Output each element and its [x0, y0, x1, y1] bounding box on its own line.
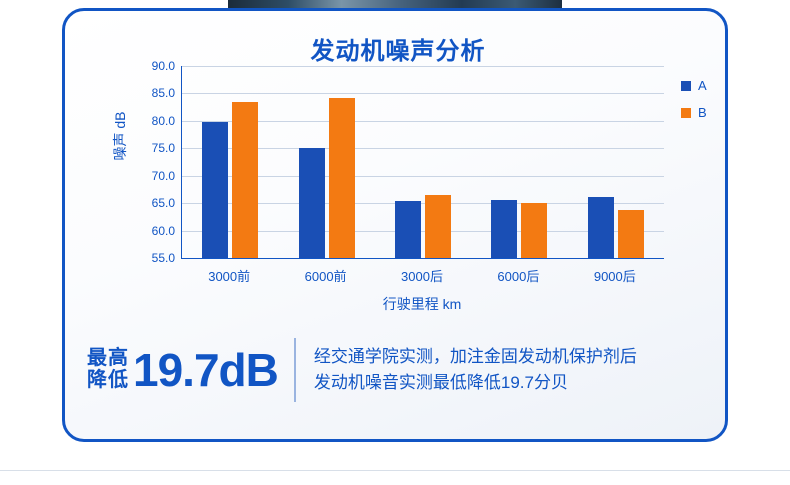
chart-legend: AB [681, 78, 727, 132]
callout-metric: 最高 降低 19.7dB [87, 338, 296, 402]
x-tick-label: 9000后 [594, 266, 636, 285]
y-tick-label: 70.0 [127, 169, 175, 183]
y-tick-label: 65.0 [127, 196, 175, 210]
legend-item-B: B [681, 105, 727, 120]
chart-area: 噪声 dB 55.060.065.070.075.080.085.090.0 3… [65, 66, 731, 321]
bar-B-6000后 [521, 203, 547, 258]
bar-B-9000后 [618, 210, 644, 258]
x-tick-label: 3000后 [401, 266, 443, 285]
y-tick-label: 55.0 [127, 251, 175, 265]
legend-label: A [698, 78, 707, 93]
y-tick-label: 60.0 [127, 224, 175, 238]
callout-label-bottom: 降低 [87, 370, 129, 392]
x-axis-title: 行驶里程 km [181, 294, 663, 314]
callout-description-line2: 发动机噪音实测最低降低19.7分贝 [314, 370, 637, 396]
callout-description-line1: 经交通学院实测，加注金固发动机保护剂后 [314, 344, 637, 370]
y-tick-label: 75.0 [127, 141, 175, 155]
y-tick-label: 90.0 [127, 59, 175, 73]
highlight-callout: 最高 降低 19.7dB 经交通学院实测，加注金固发动机保护剂后 发动机噪音实测… [87, 333, 707, 407]
y-axis-tick-labels: 55.060.065.070.075.080.085.090.0 [127, 66, 175, 258]
legend-item-A: A [681, 78, 727, 93]
noise-analysis-card: 发动机噪声分析 噪声 dB 55.060.065.070.075.080.085… [62, 8, 728, 442]
x-tick-label: 6000后 [497, 266, 539, 285]
top-cropped-image-strip [0, 0, 790, 8]
x-tick-label: 6000前 [305, 266, 347, 285]
x-tick-label: 3000前 [208, 266, 250, 285]
bar-B-3000前 [232, 102, 258, 258]
bottom-divider [0, 470, 790, 471]
gridline [182, 93, 664, 94]
y-tick-label: 85.0 [127, 86, 175, 100]
callout-value: 19.7dB [133, 347, 278, 393]
legend-swatch-icon [681, 108, 691, 118]
legend-label: B [698, 105, 707, 120]
partial-photo-thumbnail [228, 0, 562, 8]
callout-metric-labels: 最高 降低 [87, 348, 129, 391]
bar-B-3000后 [425, 195, 451, 258]
bar-A-9000后 [588, 197, 614, 258]
y-tick-label: 80.0 [127, 114, 175, 128]
bar-A-6000前 [299, 148, 325, 258]
bar-A-3000后 [395, 201, 421, 258]
bar-B-6000前 [329, 98, 355, 258]
callout-description: 经交通学院实测，加注金固发动机保护剂后 发动机噪音实测最低降低19.7分贝 [296, 344, 637, 397]
bar-A-3000前 [202, 122, 228, 258]
legend-swatch-icon [681, 81, 691, 91]
gridline [182, 66, 664, 67]
bar-A-6000后 [491, 200, 517, 258]
plot-region [181, 66, 664, 259]
callout-label-top: 最高 [87, 348, 129, 370]
